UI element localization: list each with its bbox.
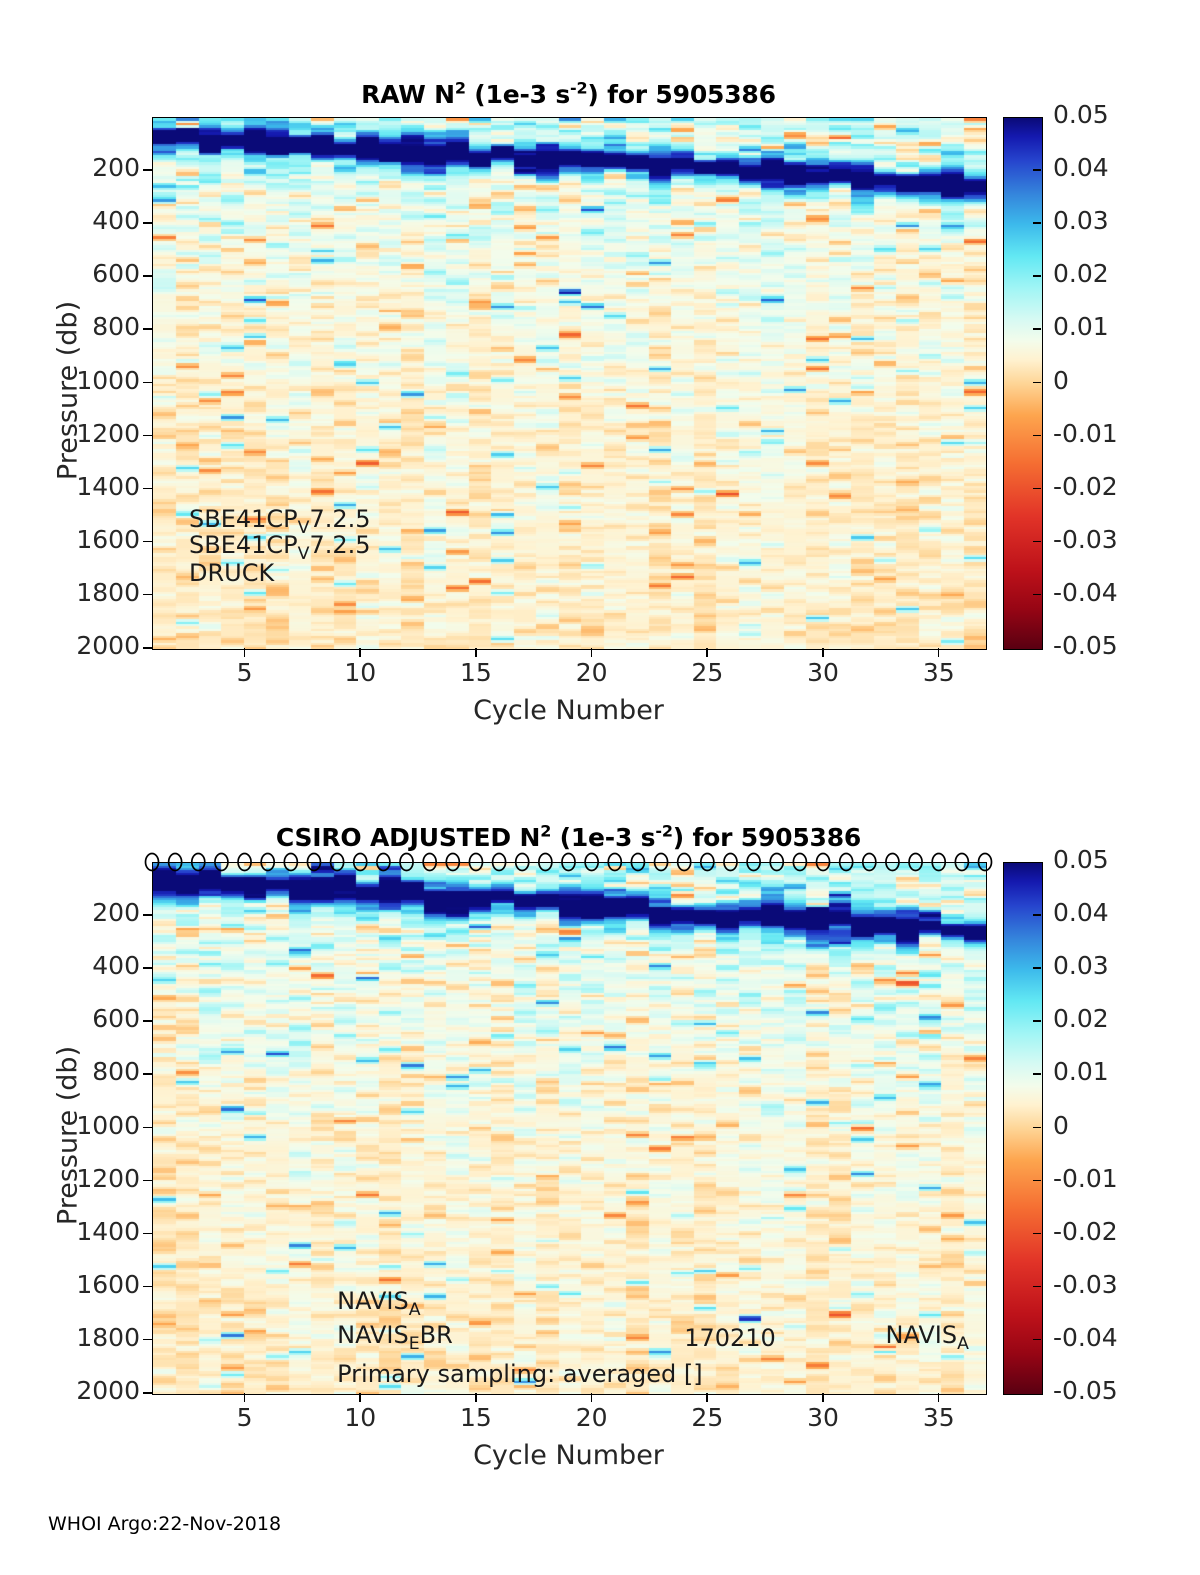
colorbar-tick-label: -0.04 (1053, 1323, 1118, 1352)
raw-x-axis-label: Cycle Number (152, 695, 985, 726)
adjusted-colorbar-gradient (1004, 863, 1042, 1394)
adjusted-colorbar (1003, 862, 1043, 1395)
y-tick-mark (143, 382, 152, 384)
y-tick-label: 600 (4, 259, 140, 288)
y-tick-label: 1200 (4, 1164, 140, 1193)
plot-annotation: NAVISA (337, 1287, 420, 1315)
annotation-subscript: A (409, 1300, 421, 1320)
y-tick-mark (143, 1180, 152, 1182)
annotation-subscript: V (298, 544, 310, 564)
x-tick-label: 10 (320, 1403, 400, 1432)
y-tick-label: 400 (4, 206, 140, 235)
y-tick-mark (143, 1127, 152, 1129)
y-tick-label: 1400 (4, 1217, 140, 1246)
x-tick-label: 15 (436, 658, 516, 687)
y-tick-label: 1400 (4, 472, 140, 501)
colorbar-tick-label: -0.02 (1053, 1217, 1118, 1246)
colorbar-tick-label: -0.05 (1053, 631, 1118, 660)
adj-title-mid: (1e-3 s (551, 823, 655, 852)
colorbar-tick-mark (1033, 1020, 1041, 1022)
colorbar-tick-mark (1033, 488, 1041, 490)
x-tick-label: 20 (552, 658, 632, 687)
colorbar-tick-label: 0.05 (1053, 100, 1109, 129)
plot-annotation: NAVISA (886, 1321, 969, 1349)
plot-annotation: NAVISEBR (337, 1321, 453, 1349)
y-tick-mark (143, 1020, 152, 1022)
y-tick-mark (143, 1286, 152, 1288)
colorbar-tick-label: 0.03 (1053, 206, 1109, 235)
y-tick-mark (143, 647, 152, 649)
colorbar-tick-mark (1033, 967, 1041, 969)
x-tick-mark (244, 648, 246, 657)
annotation-tail: BR (420, 1321, 453, 1349)
raw-heatmap-image (153, 118, 986, 649)
adj-title-suffix: ) for 5905386 (673, 823, 861, 852)
y-tick-label: 1600 (4, 525, 140, 554)
y-tick-label: 1800 (4, 578, 140, 607)
raw-colorbar (1003, 117, 1043, 650)
x-tick-mark (822, 1393, 824, 1402)
x-tick-label: 25 (667, 1403, 747, 1432)
x-tick-mark (475, 1393, 477, 1402)
colorbar-tick-label: -0.03 (1053, 525, 1118, 554)
y-tick-mark (143, 328, 152, 330)
annotation-base: NAVIS (886, 1321, 958, 1349)
y-tick-label: 2000 (4, 631, 140, 660)
colorbar-tick-label: -0.01 (1053, 1164, 1118, 1193)
colorbar-tick-label: 0.03 (1053, 951, 1109, 980)
colorbar-tick-mark (1033, 1073, 1041, 1075)
adjusted-heatmap-image (153, 863, 986, 1394)
annotation-base: SBE41CP (189, 505, 298, 533)
x-tick-mark (591, 1393, 593, 1402)
x-tick-label: 35 (899, 1403, 979, 1432)
y-tick-mark (143, 488, 152, 490)
x-tick-mark (359, 648, 361, 657)
y-tick-mark (143, 222, 152, 224)
adjusted-x-axis-label: Cycle Number (152, 1440, 985, 1471)
figure-footer: WHOI Argo:22-Nov-2018 (48, 1513, 281, 1535)
x-tick-mark (475, 648, 477, 657)
x-tick-label: 30 (783, 1403, 863, 1432)
annotation-base: DRUCK (189, 559, 274, 587)
raw-title-sup2: -2 (570, 79, 587, 98)
y-tick-mark (143, 967, 152, 969)
colorbar-tick-mark (1033, 328, 1041, 330)
annotation-subscript: A (957, 1334, 969, 1354)
y-tick-label: 1600 (4, 1270, 140, 1299)
colorbar-tick-label: -0.04 (1053, 578, 1118, 607)
x-tick-mark (938, 1393, 940, 1402)
x-tick-label: 30 (783, 658, 863, 687)
colorbar-tick-label: 0.04 (1053, 898, 1109, 927)
colorbar-tick-label: 0.02 (1053, 1004, 1109, 1033)
colorbar-tick-mark (1033, 914, 1041, 916)
colorbar-tick-mark (1033, 1286, 1041, 1288)
x-tick-label: 20 (552, 1403, 632, 1432)
y-tick-mark (143, 1339, 152, 1341)
colorbar-tick-mark (1033, 382, 1041, 384)
y-tick-label: 400 (4, 951, 140, 980)
annotation-subscript: E (409, 1334, 420, 1354)
colorbar-tick-label: 0.01 (1053, 1057, 1109, 1086)
y-tick-mark (143, 1392, 152, 1394)
x-tick-mark (244, 1393, 246, 1402)
y-tick-mark (143, 1073, 152, 1075)
x-tick-label: 5 (205, 658, 285, 687)
colorbar-tick-mark (1033, 1339, 1041, 1341)
colorbar-tick-label: -0.05 (1053, 1376, 1118, 1405)
adjusted-plot-title: CSIRO ADJUSTED N2 (1e-3 s-2) for 5905386 (152, 823, 985, 852)
y-tick-label: 1200 (4, 419, 140, 448)
annotation-base: 170210 (684, 1324, 776, 1352)
colorbar-tick-mark (1033, 1127, 1041, 1129)
adj-title-sup1: 2 (540, 822, 551, 841)
adj-title-prefix: CSIRO ADJUSTED N (276, 823, 540, 852)
plot-annotation: 170210 (684, 1324, 776, 1352)
plot-annotation: SBE41CPV7.2.5 (189, 505, 371, 533)
colorbar-tick-mark (1033, 222, 1041, 224)
raw-title-sup1: 2 (455, 79, 466, 98)
y-tick-label: 200 (4, 153, 140, 182)
colorbar-tick-label: 0.02 (1053, 259, 1109, 288)
y-tick-mark (143, 541, 152, 543)
colorbar-tick-label: 0.01 (1053, 312, 1109, 341)
colorbar-tick-label: 0 (1053, 366, 1069, 395)
y-tick-mark (143, 275, 152, 277)
y-tick-label: 1000 (4, 1111, 140, 1140)
x-tick-mark (706, 648, 708, 657)
raw-title-mid: (1e-3 s (466, 80, 570, 109)
y-tick-mark (143, 914, 152, 916)
plot-annotation: DRUCK (189, 559, 274, 587)
x-tick-label: 35 (899, 658, 979, 687)
colorbar-tick-label: -0.01 (1053, 419, 1118, 448)
plot-annotation: Primary sampling: averaged [] (337, 1360, 703, 1388)
raw-plot-title: RAW N2 (1e-3 s-2) for 5905386 (152, 80, 985, 109)
x-tick-mark (591, 648, 593, 657)
y-tick-label: 2000 (4, 1376, 140, 1405)
y-tick-mark (143, 435, 152, 437)
x-tick-label: 25 (667, 658, 747, 687)
x-tick-mark (359, 1393, 361, 1402)
y-tick-label: 1800 (4, 1323, 140, 1352)
adj-title-sup2: -2 (655, 822, 672, 841)
y-tick-label: 600 (4, 1004, 140, 1033)
y-tick-label: 1000 (4, 366, 140, 395)
x-tick-label: 10 (320, 658, 400, 687)
y-tick-label: 200 (4, 898, 140, 927)
annotation-base: NAVIS (337, 1287, 409, 1315)
adjusted-heatmap-axes (152, 862, 987, 1395)
annotation-tail: 7.2.5 (309, 505, 370, 533)
plot-annotation: SBE41CPV7.2.5 (189, 531, 371, 559)
raw-title-prefix: RAW N (361, 80, 455, 109)
annotation-tail: 7.2.5 (309, 531, 370, 559)
x-tick-label: 5 (205, 1403, 285, 1432)
colorbar-tick-mark (1033, 1233, 1041, 1235)
colorbar-tick-mark (1033, 1180, 1041, 1182)
colorbar-tick-label: -0.03 (1053, 1270, 1118, 1299)
raw-heatmap-axes (152, 117, 987, 650)
x-tick-mark (822, 648, 824, 657)
y-tick-label: 800 (4, 312, 140, 341)
colorbar-tick-label: 0 (1053, 1111, 1069, 1140)
raw-n2-panel: RAW N2 (1e-3 s-2) for 5905386 Pressure (… (0, 0, 1200, 760)
adjusted-n2-panel: CSIRO ADJUSTED N2 (1e-3 s-2) for 5905386… (0, 745, 1200, 1505)
y-tick-mark (143, 594, 152, 596)
x-tick-mark (938, 648, 940, 657)
colorbar-tick-mark (1033, 435, 1041, 437)
colorbar-tick-label: -0.02 (1053, 472, 1118, 501)
raw-title-suffix: ) for 5905386 (587, 80, 775, 109)
colorbar-tick-mark (1033, 275, 1041, 277)
annotation-base: NAVIS (337, 1321, 409, 1349)
colorbar-tick-mark (1033, 169, 1041, 171)
colorbar-tick-label: 0.05 (1053, 845, 1109, 874)
raw-colorbar-gradient (1004, 118, 1042, 649)
y-tick-mark (143, 1233, 152, 1235)
y-tick-label: 800 (4, 1057, 140, 1086)
x-tick-mark (706, 1393, 708, 1402)
colorbar-tick-mark (1033, 541, 1041, 543)
y-tick-mark (143, 169, 152, 171)
colorbar-tick-label: 0.04 (1053, 153, 1109, 182)
colorbar-tick-mark (1033, 594, 1041, 596)
annotation-base: Primary sampling: averaged [] (337, 1360, 703, 1388)
x-tick-label: 15 (436, 1403, 516, 1432)
annotation-base: SBE41CP (189, 531, 298, 559)
